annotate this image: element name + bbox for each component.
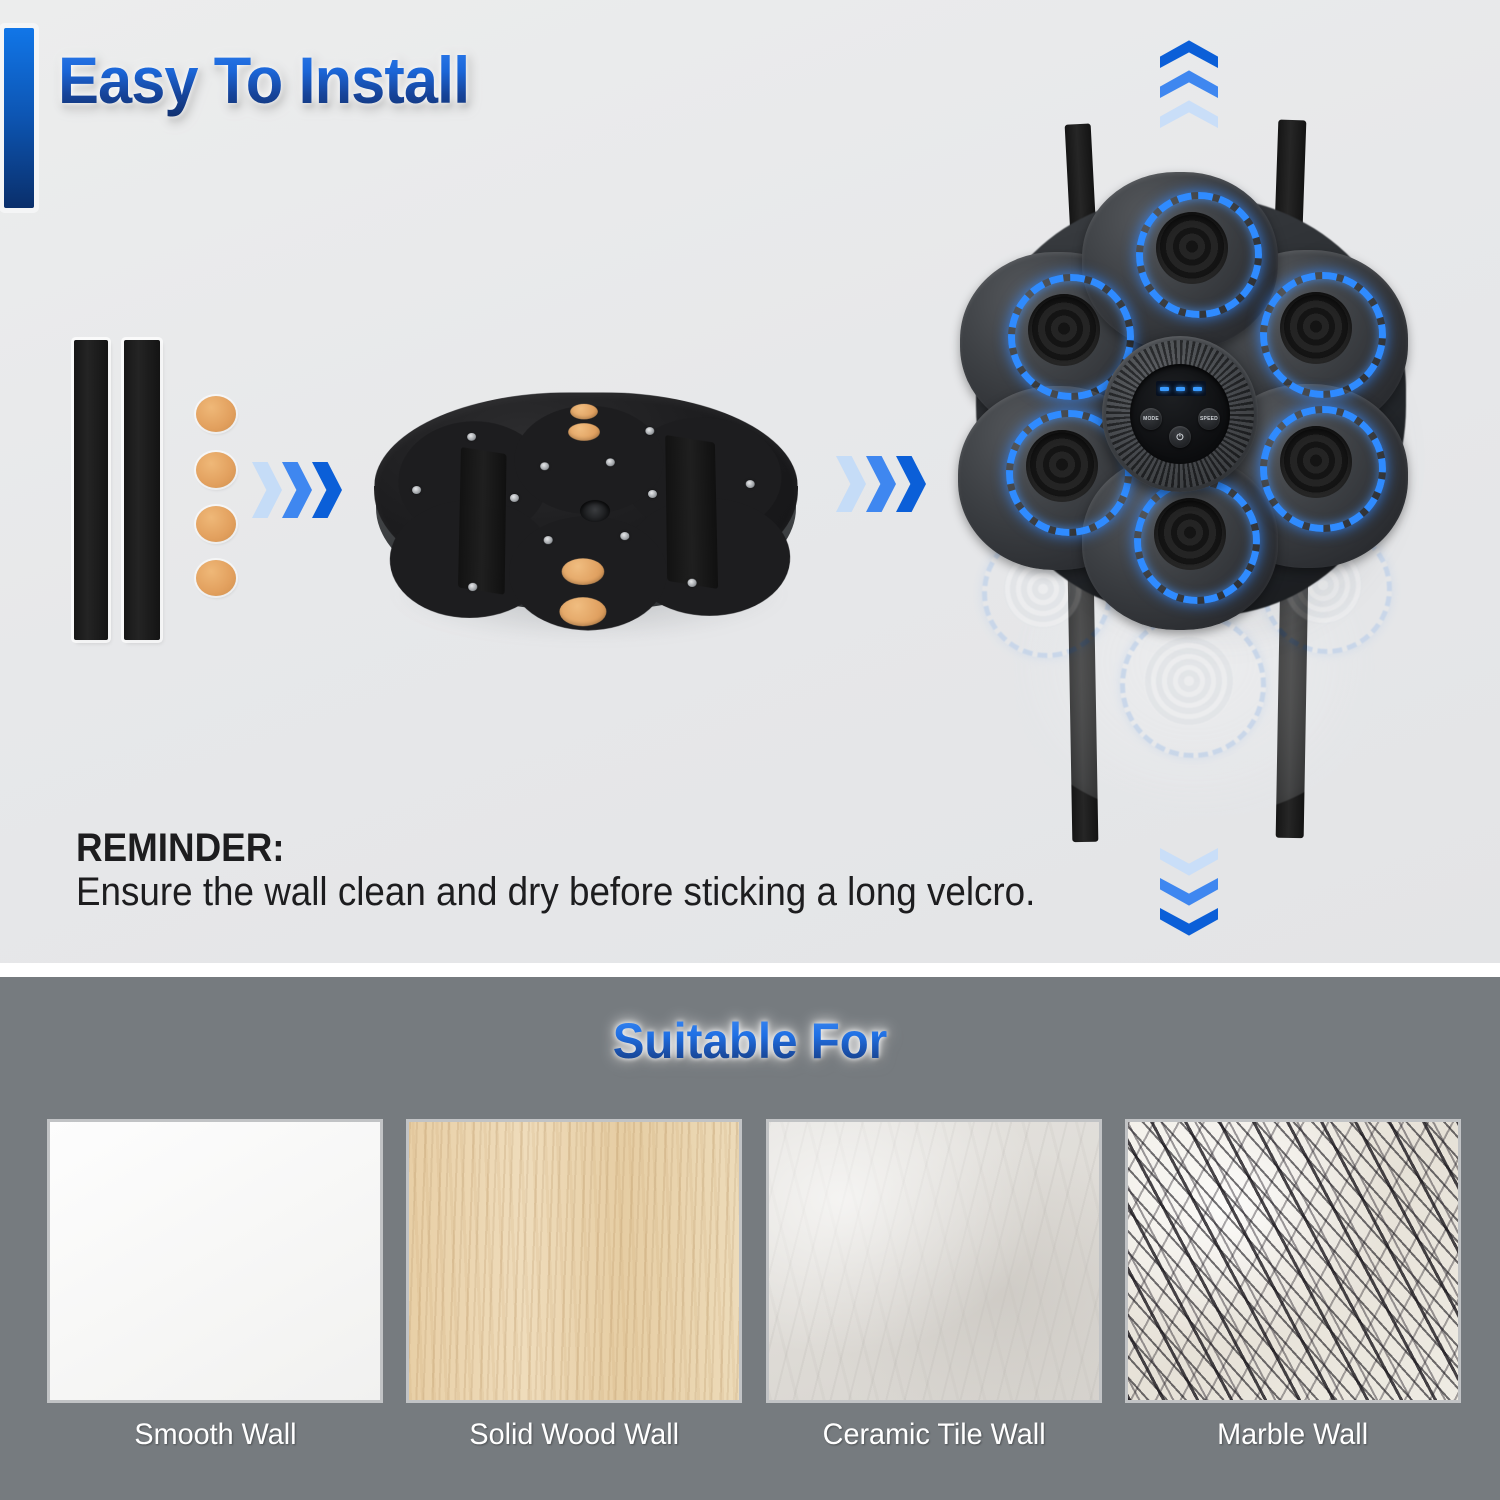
- screw-hole: [746, 480, 755, 488]
- control-hub: MODE SPEED ⏻: [1102, 336, 1258, 492]
- mode-button[interactable]: MODE: [1140, 408, 1162, 430]
- reminder-text: Ensure the wall clean and dry before sti…: [76, 870, 1035, 915]
- wall-type-item: Ceramic Tile Wall: [769, 1122, 1099, 1452]
- adhesive-pad: [196, 506, 236, 542]
- plate-velcro-strip: [665, 435, 718, 589]
- wall-type-item: Solid Wood Wall: [409, 1122, 739, 1452]
- chevron-right-icon-group: [252, 462, 342, 518]
- wall-type-label: Marble Wall: [1217, 1418, 1368, 1452]
- chevron-down-icon: [1160, 908, 1218, 938]
- wall-type-item: Smooth Wall: [50, 1122, 380, 1452]
- plate-velcro-strip: [458, 447, 507, 595]
- infographic-page: Easy To Install: [0, 0, 1500, 1500]
- chevron-right-icon-group: [836, 456, 926, 512]
- device-body: MODE SPEED ⏻: [960, 170, 1420, 640]
- device-face: MODE SPEED ⏻: [964, 178, 1392, 596]
- velcro-strip: [74, 340, 108, 640]
- ceramic-tile-wall-swatch: [769, 1122, 1099, 1400]
- display-screen: [1156, 381, 1206, 396]
- plate-lobe: [514, 406, 665, 514]
- boxing-pad[interactable]: [1280, 426, 1352, 498]
- suitable-for-title: Suitable For: [38, 1012, 1463, 1070]
- marble-wall-swatch: [1128, 1122, 1458, 1400]
- adhesive-pad: [568, 423, 600, 441]
- mounting-back-plate: [368, 368, 808, 658]
- power-button[interactable]: ⏻: [1169, 426, 1191, 448]
- screw-hole: [620, 532, 629, 540]
- boxing-pad[interactable]: [1028, 294, 1100, 366]
- easy-to-install-section: Easy To Install: [0, 0, 1500, 975]
- chevron-up-icon: [1160, 38, 1218, 68]
- adhesive-pad: [570, 404, 598, 419]
- chevron-up-icon-group: [1160, 38, 1218, 128]
- screw-hole: [544, 536, 553, 544]
- music-boxing-machine: MODE SPEED ⏻: [940, 120, 1460, 860]
- chevron-right-icon: [866, 456, 896, 512]
- chevron-right-icon: [252, 462, 282, 518]
- chevron-up-icon: [1160, 68, 1218, 98]
- speed-button[interactable]: SPEED: [1198, 408, 1220, 430]
- wall-type-item: Marble Wall: [1128, 1122, 1458, 1452]
- boxing-pad[interactable]: [1026, 430, 1098, 502]
- boxing-pad[interactable]: [1154, 498, 1226, 570]
- display-segment: [1176, 387, 1185, 391]
- screw-hole: [606, 458, 615, 466]
- chevron-right-icon: [896, 456, 926, 512]
- screw-hole: [648, 490, 657, 498]
- adhesive-pad: [196, 452, 236, 488]
- display-segment: [1160, 387, 1169, 391]
- chevron-right-icon: [282, 462, 312, 518]
- reminder-label: REMINDER:: [76, 826, 285, 871]
- adhesive-pad: [196, 396, 236, 432]
- solid-wood-wall-swatch: [409, 1122, 739, 1400]
- page-title: Easy To Install: [58, 42, 469, 118]
- control-panel: MODE SPEED ⏻: [1130, 364, 1230, 464]
- screw-hole: [510, 494, 519, 502]
- velcro-strip: [124, 340, 160, 640]
- plate-top-face: [370, 392, 801, 597]
- screw-hole: [645, 427, 654, 435]
- display-segment: [1193, 387, 1202, 391]
- section-divider: [0, 963, 1500, 977]
- screw-hole: [540, 462, 549, 470]
- chevron-down-icon: [1160, 878, 1218, 908]
- boxing-pad[interactable]: [1156, 212, 1228, 284]
- heading-accent-bar: [4, 28, 34, 208]
- chevron-right-icon: [312, 462, 342, 518]
- plate-center-hole: [580, 500, 610, 522]
- wall-type-label: Smooth Wall: [134, 1418, 296, 1452]
- chevron-down-icon-group: [1160, 848, 1218, 938]
- screw-hole: [687, 579, 696, 587]
- smooth-wall-swatch: [50, 1122, 380, 1400]
- adhesive-pad: [562, 558, 605, 585]
- adhesive-pad: [196, 560, 236, 596]
- wall-type-label: Solid Wood Wall: [469, 1418, 679, 1452]
- chevron-right-icon: [836, 456, 866, 512]
- adhesive-pad: [559, 597, 606, 626]
- wall-type-label: Ceramic Tile Wall: [822, 1418, 1045, 1452]
- wall-type-list: Smooth Wall Solid Wood Wall Ceramic Tile…: [50, 1122, 1458, 1452]
- boxing-pad[interactable]: [1280, 292, 1352, 364]
